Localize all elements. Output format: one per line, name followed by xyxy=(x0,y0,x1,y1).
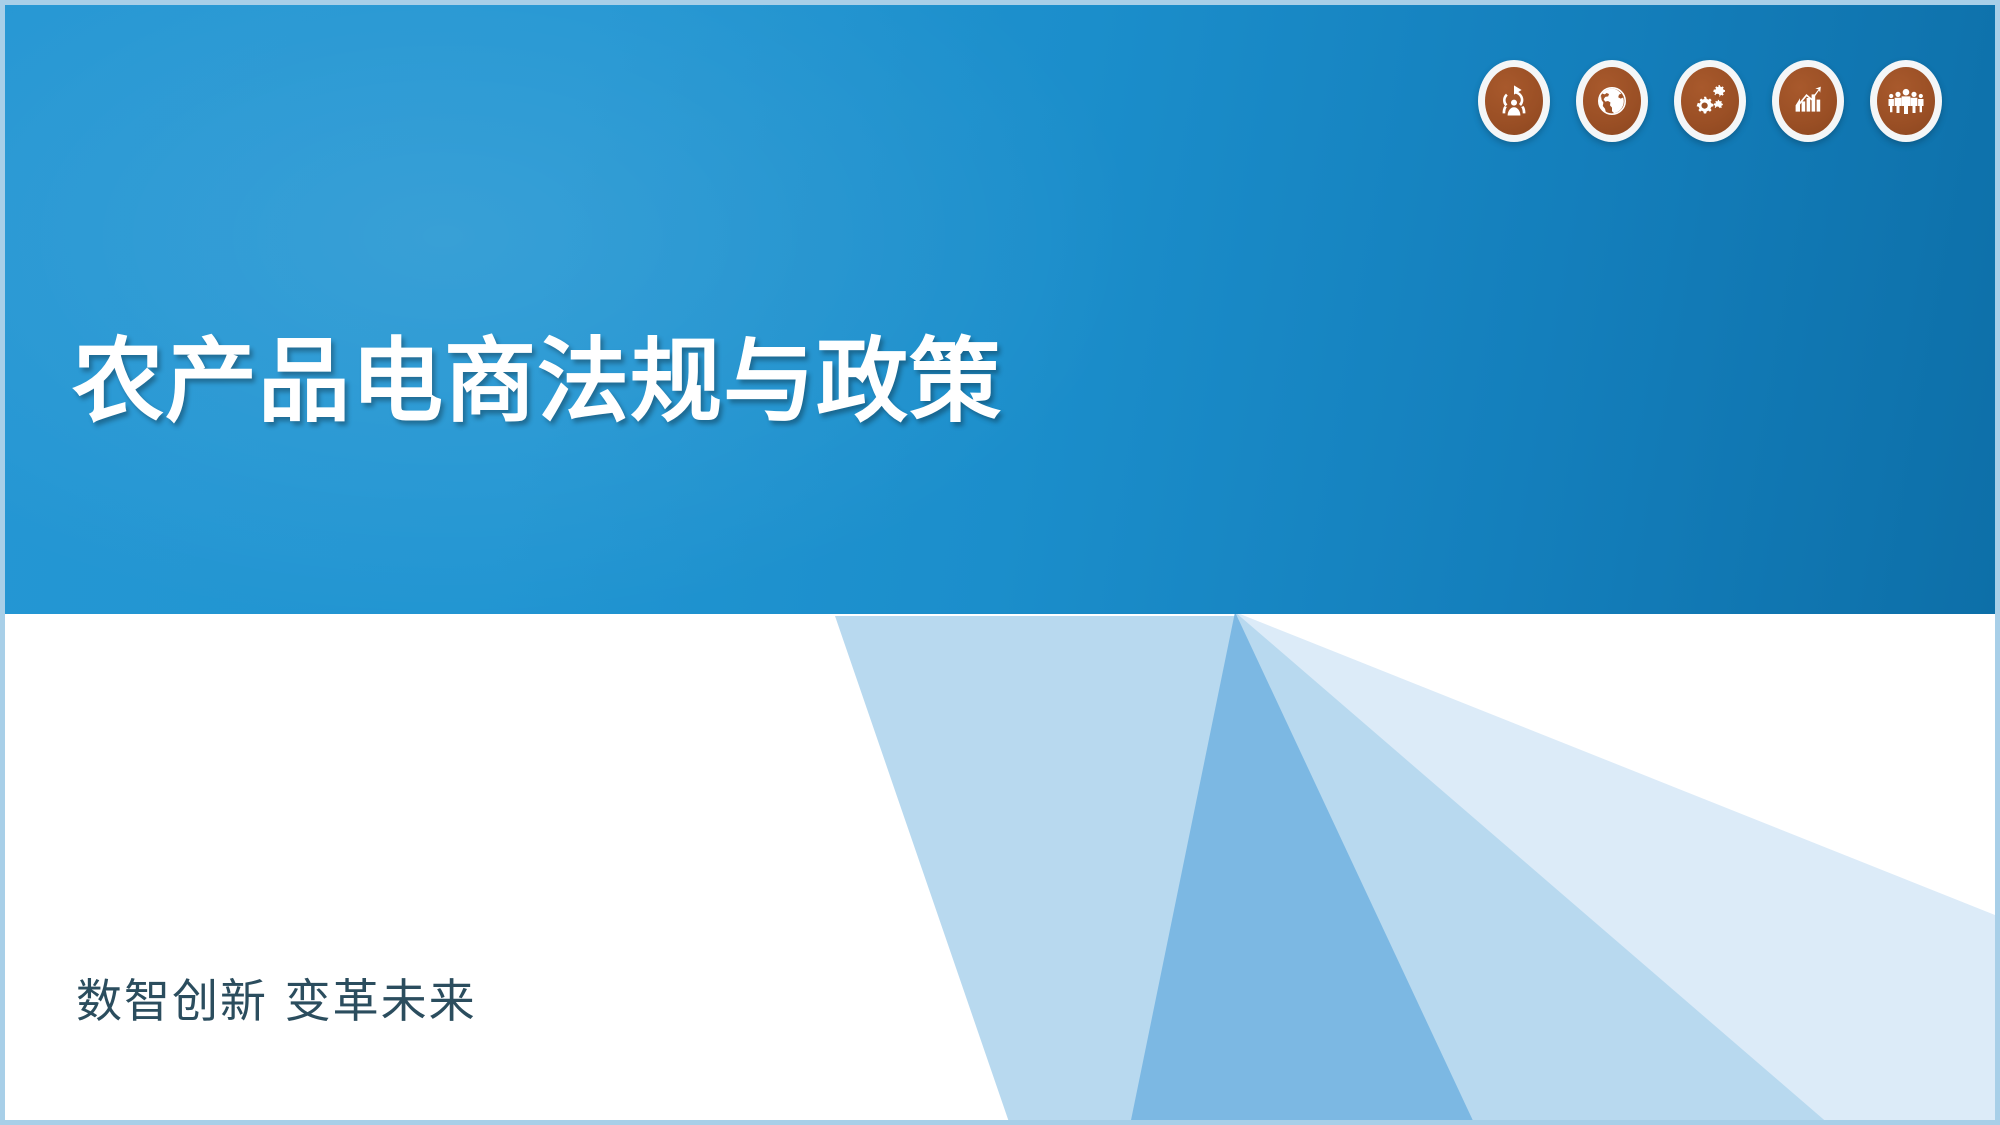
icon-badge-inner xyxy=(1681,67,1739,135)
icon-badge-globe[interactable] xyxy=(1576,60,1648,142)
slide-title: 农产品电商法规与政策 xyxy=(72,330,1002,433)
icon-badge-person-growth[interactable] xyxy=(1478,60,1550,142)
decorative-shapes xyxy=(0,612,2000,1125)
icon-badge-inner xyxy=(1779,67,1837,135)
presentation-slide: 农产品电商法规与政策 数智创新 变革未来 xyxy=(0,0,2000,1125)
gears-icon xyxy=(1692,84,1728,118)
slide-subtitle: 数智创新 变革未来 xyxy=(76,974,477,1029)
people-group-icon xyxy=(1887,86,1925,116)
icon-row xyxy=(1478,60,1942,142)
icon-badge-inner xyxy=(1583,67,1641,135)
icon-badge-people-group[interactable] xyxy=(1870,60,1942,142)
bar-chart-growth-icon xyxy=(1791,85,1825,117)
icon-badge-inner xyxy=(1877,67,1935,135)
globe-icon xyxy=(1595,84,1629,118)
icon-badge-inner xyxy=(1485,67,1543,135)
icon-badge-gears[interactable] xyxy=(1674,60,1746,142)
person-growth-arrow-icon xyxy=(1497,84,1531,118)
icon-badge-bar-chart[interactable] xyxy=(1772,60,1844,142)
